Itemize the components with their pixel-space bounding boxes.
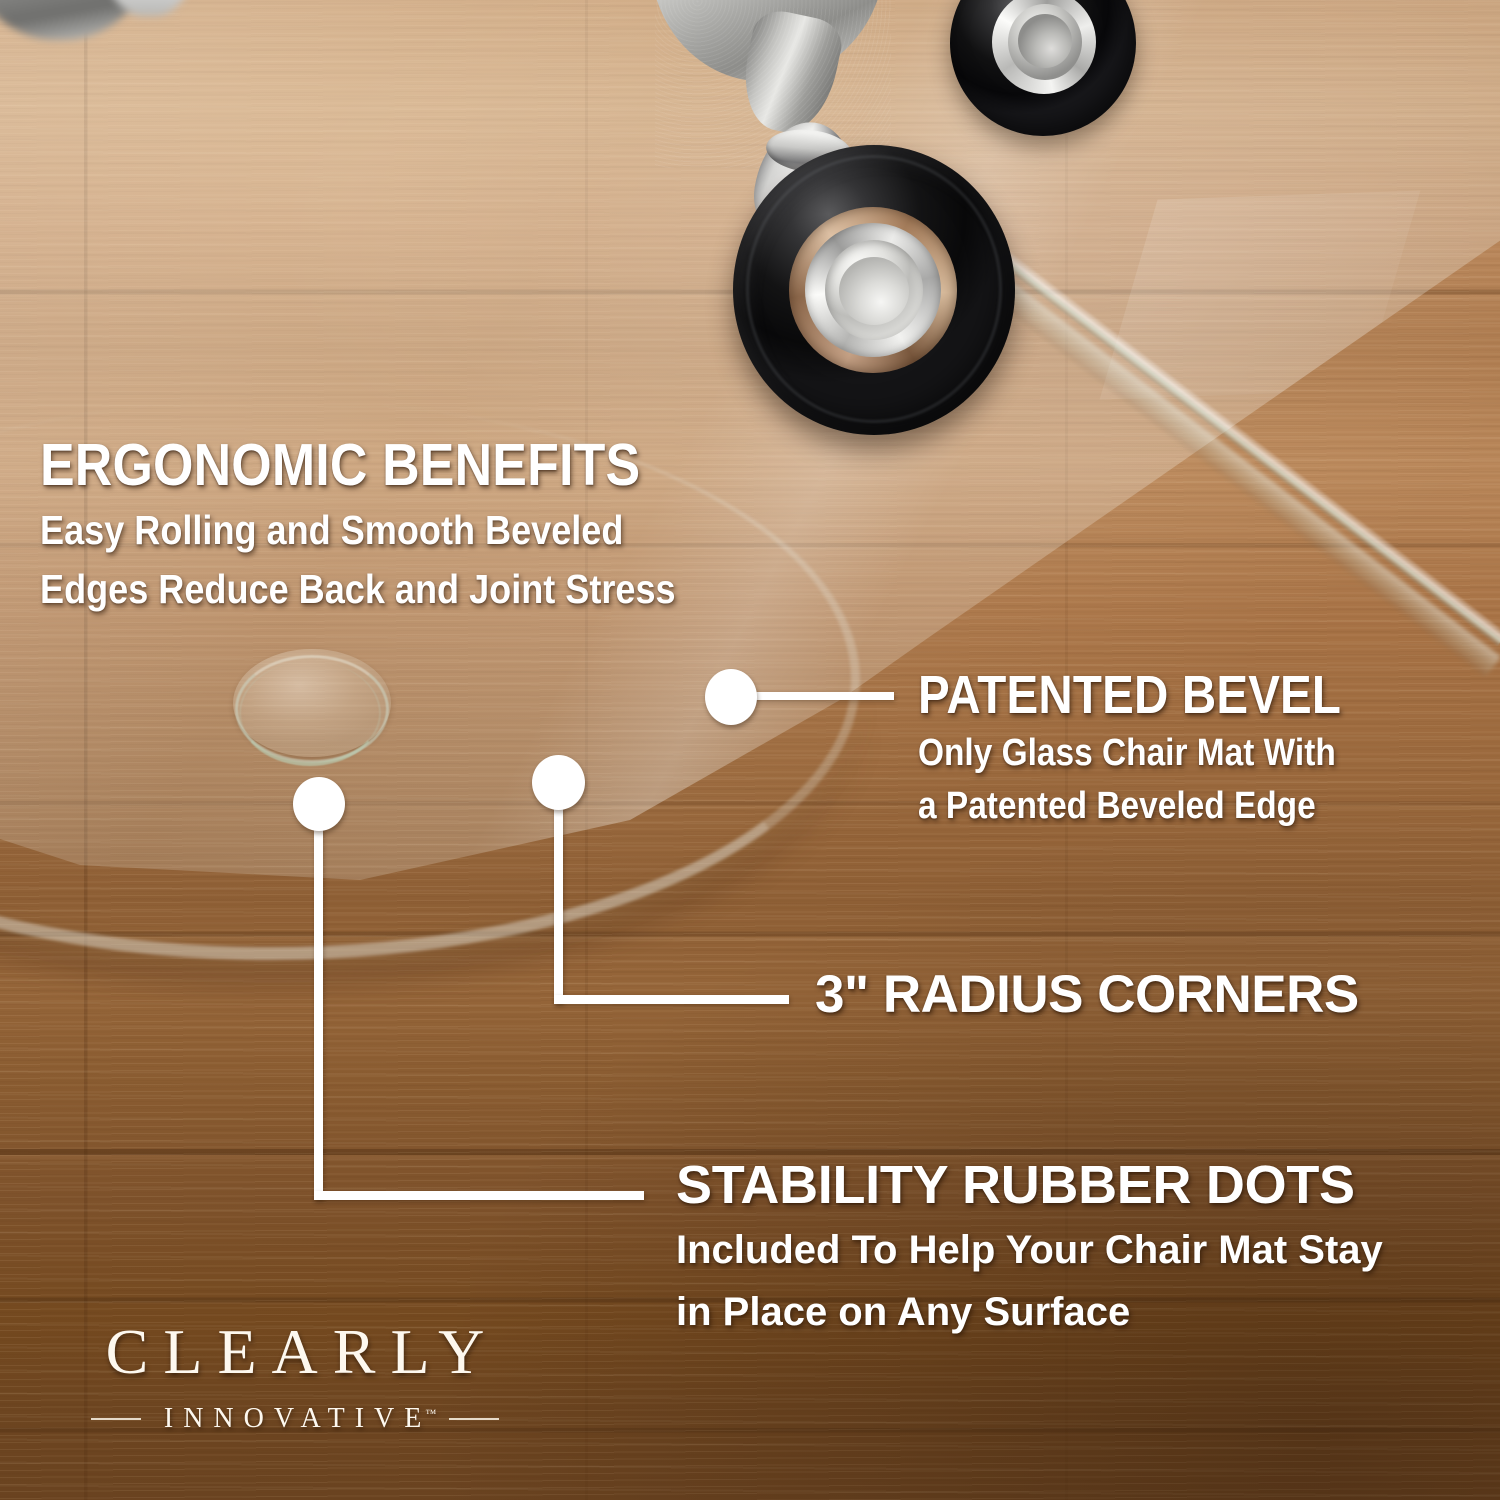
infographic-canvas: ERGONOMIC BENEFITS Easy Rolling and Smoo…	[0, 0, 1500, 1500]
feature-block-ergonomic-benefits: ERGONOMIC BENEFITS Easy Rolling and Smoo…	[40, 436, 762, 612]
caster-hub-bore	[1018, 14, 1072, 68]
feature-block-patented-bevel: PATENTED BEVEL Only Glass Chair Mat With…	[918, 668, 1399, 829]
brand-tagline-row: INNOVATIVE™	[85, 1403, 505, 1435]
feature-subtext-dots-line1: Included To Help Your Chair Mat Stay	[676, 1228, 1383, 1274]
feature-block-radius-corners: 3" RADIUS CORNERS	[815, 968, 1359, 1021]
brand-rule-right	[449, 1418, 499, 1420]
caster-wheel-secondary	[950, 0, 1136, 136]
brand-tagline: INNOVATIVE™	[154, 1403, 436, 1435]
rubber-dot	[233, 649, 391, 757]
feature-heading-patented-bevel: PATENTED BEVEL	[918, 668, 1341, 722]
brand-name: CLEARLY	[85, 1320, 505, 1384]
feature-subtext-bevel-line1: Only Glass Chair Mat With	[918, 732, 1341, 775]
feature-subtext-dots-line2: in Place on Any Surface	[676, 1290, 1383, 1336]
brand-trademark-symbol: ™	[425, 1408, 436, 1420]
feature-block-stability-rubber-dots: STABILITY RUBBER DOTS Included To Help Y…	[676, 1158, 1383, 1335]
feature-heading-ergonomic-benefits: ERGONOMIC BENEFITS	[40, 436, 676, 495]
caster-hub-bore	[839, 257, 909, 325]
rubber-dot-edge-highlight	[239, 661, 381, 766]
caster-wheel-primary	[733, 145, 1015, 435]
brand-tagline-text: INNOVATIVE	[164, 1403, 431, 1434]
brand-logo: CLEARLY INNOVATIVE™	[85, 1320, 505, 1435]
brand-rule-left	[91, 1418, 141, 1420]
feature-heading-radius-corners: 3" RADIUS CORNERS	[815, 968, 1359, 1021]
feature-subtext-ergonomic-line1: Easy Rolling and Smooth Beveled	[40, 507, 676, 554]
feature-heading-stability-rubber-dots: STABILITY RUBBER DOTS	[676, 1158, 1383, 1212]
feature-subtext-ergonomic-line2: Edges Reduce Back and Joint Stress	[40, 566, 676, 613]
feature-subtext-bevel-line2: a Patented Beveled Edge	[918, 785, 1341, 828]
